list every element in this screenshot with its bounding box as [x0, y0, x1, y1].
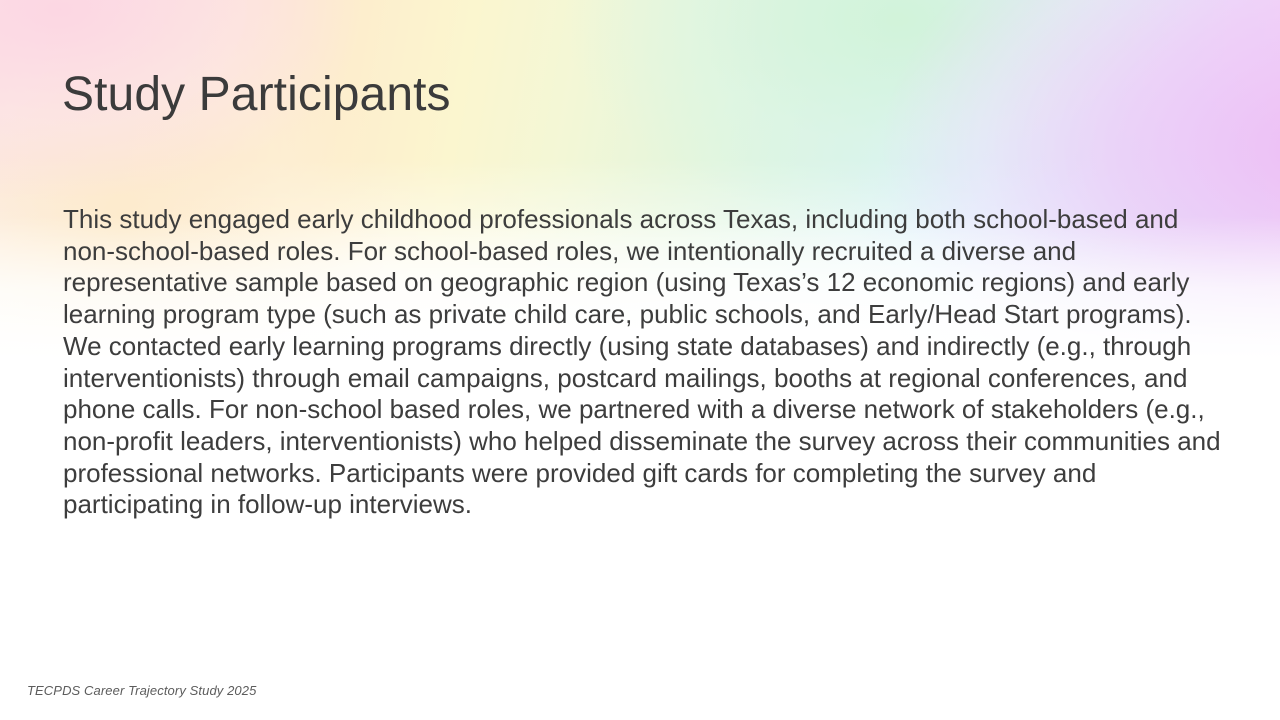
page-title: Study Participants [62, 66, 451, 125]
body-paragraph: This study engaged early childhood profe… [63, 204, 1221, 521]
slide-content: Study Participants This study engaged ea… [0, 0, 1280, 720]
slide-footer: TECPDS Career Trajectory Study 2025 [27, 683, 256, 698]
presentation-slide: Study Participants This study engaged ea… [0, 0, 1280, 720]
